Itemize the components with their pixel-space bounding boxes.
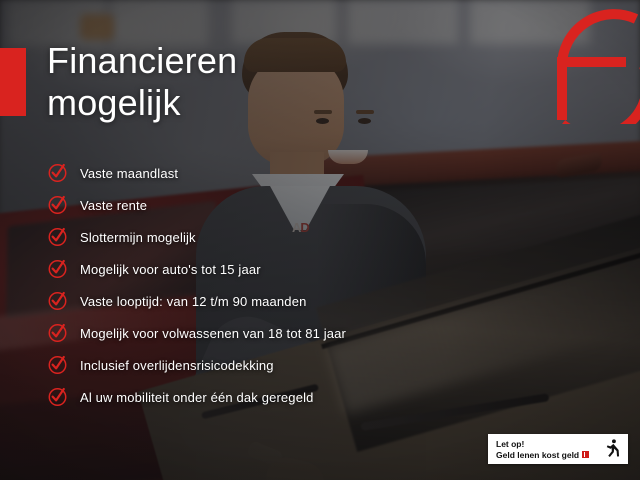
- check-circle-icon: [47, 226, 68, 247]
- legal-warning-text: Let op! Geld lenen kost geld: [496, 439, 600, 460]
- banner-content: Financieren mogelijk Vaste maandlast Vas…: [0, 0, 640, 480]
- feature-label: Slottermijn mogelijk: [80, 230, 196, 246]
- check-circle-icon: [47, 290, 68, 311]
- check-circle-icon: [47, 194, 68, 215]
- legal-warning-line-1: Let op!: [496, 439, 600, 449]
- financing-promo-banner: AD Financieren mogelijk: [0, 0, 640, 480]
- legal-warning-badge: Let op! Geld lenen kost geld: [488, 434, 628, 464]
- headline-line-1: Financieren: [47, 40, 387, 82]
- headline-line-2: mogelijk: [47, 82, 387, 124]
- legal-warning-line-2-text: Geld lenen kost geld: [496, 450, 579, 460]
- list-item: Vaste looptijd: van 12 t/m 90 maanden: [47, 286, 467, 318]
- list-item: Slottermijn mogelijk: [47, 222, 467, 254]
- feature-label: Al uw mobiliteit onder één dak geregeld: [80, 390, 314, 406]
- list-item: Inclusief overlijdensrisicodekking: [47, 350, 467, 382]
- check-circle-icon: [47, 354, 68, 375]
- list-item: Vaste maandlast: [47, 158, 467, 190]
- list-item: Vaste rente: [47, 190, 467, 222]
- feature-label: Mogelijk voor volwassenen van 18 tot 81 …: [80, 326, 346, 342]
- running-man-icon: [600, 438, 622, 460]
- check-circle-icon: [47, 386, 68, 407]
- afm-flag-icon: [582, 451, 589, 458]
- check-circle-icon: [47, 258, 68, 279]
- list-item: Al uw mobiliteit onder één dak geregeld: [47, 382, 467, 414]
- list-item: Mogelijk voor volwassenen van 18 tot 81 …: [47, 318, 467, 350]
- feature-label: Vaste rente: [80, 198, 147, 214]
- feature-label: Mogelijk voor auto's tot 15 jaar: [80, 262, 261, 278]
- check-circle-icon: [47, 322, 68, 343]
- list-item: Mogelijk voor auto's tot 15 jaar: [47, 254, 467, 286]
- feature-list: Vaste maandlast Vaste rente Slottermijn …: [47, 158, 467, 414]
- page-title: Financieren mogelijk: [47, 40, 387, 124]
- feature-label: Vaste maandlast: [80, 166, 178, 182]
- legal-warning-line-2: Geld lenen kost geld: [496, 450, 600, 460]
- check-circle-icon: [47, 162, 68, 183]
- feature-label: Vaste looptijd: van 12 t/m 90 maanden: [80, 294, 306, 310]
- feature-label: Inclusief overlijdensrisicodekking: [80, 358, 274, 374]
